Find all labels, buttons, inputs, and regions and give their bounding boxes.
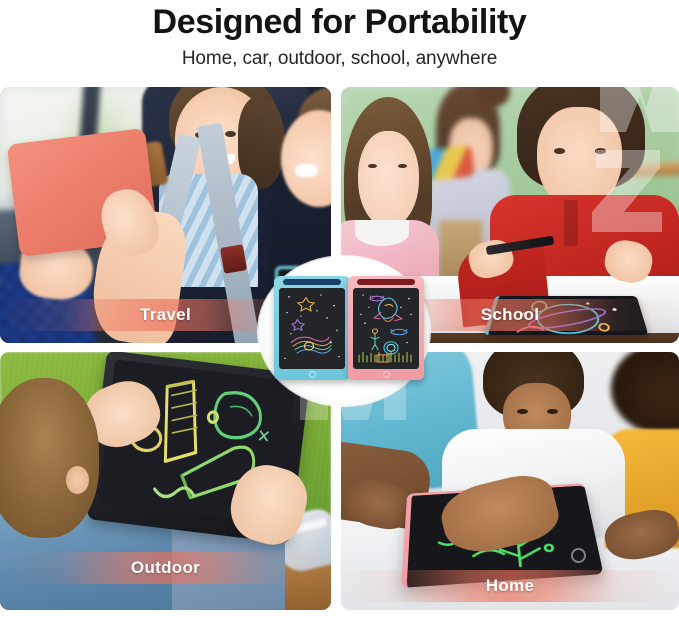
page-subtitle: Home, car, outdoor, school, anywhere bbox=[0, 42, 679, 72]
header: Designed for Portability Home, car, outd… bbox=[0, 0, 679, 86]
page-title: Designed for Portability bbox=[0, 0, 679, 42]
label-band-outdoor: Outdoor bbox=[0, 552, 331, 584]
panel-label-travel: Travel bbox=[140, 305, 191, 325]
panel-label-outdoor: Outdoor bbox=[131, 558, 200, 578]
boy-head bbox=[0, 378, 99, 538]
tablet-pink[interactable] bbox=[348, 276, 424, 380]
label-band-home: Home bbox=[341, 570, 679, 602]
seat-belt-buckle bbox=[220, 244, 247, 273]
center-tablet-pair bbox=[256, 268, 432, 386]
tablet-cyan[interactable] bbox=[274, 276, 350, 380]
girl-eye-left bbox=[517, 409, 528, 414]
tablet-cyan-drawing bbox=[279, 288, 345, 369]
boy-eye-right bbox=[595, 148, 606, 154]
girl-eye-right bbox=[547, 409, 558, 414]
tablet-cyan-erase-button[interactable] bbox=[309, 371, 316, 378]
tablet-pink-top-bar bbox=[357, 279, 415, 285]
boy-ear bbox=[66, 466, 89, 494]
panel-label-home: Home bbox=[486, 576, 534, 596]
tablet-pink-screen bbox=[353, 288, 419, 369]
product-infographic: Designed for Portability Home, car, outd… bbox=[0, 0, 679, 618]
girl-face bbox=[358, 131, 419, 228]
girl-eye-right bbox=[225, 131, 236, 137]
girl-collar bbox=[355, 220, 409, 246]
polo-placket bbox=[564, 200, 578, 246]
panel-outdoor[interactable]: Outdoor bbox=[0, 352, 331, 610]
tablet-cyan-screen bbox=[279, 288, 345, 369]
tablet-cyan-top-bar bbox=[283, 279, 341, 285]
tablet-pink-erase-button[interactable] bbox=[383, 371, 390, 378]
tablet-pink-drawing bbox=[353, 288, 419, 369]
second-child-smile bbox=[295, 164, 318, 177]
panel-label-school: School bbox=[481, 305, 539, 325]
